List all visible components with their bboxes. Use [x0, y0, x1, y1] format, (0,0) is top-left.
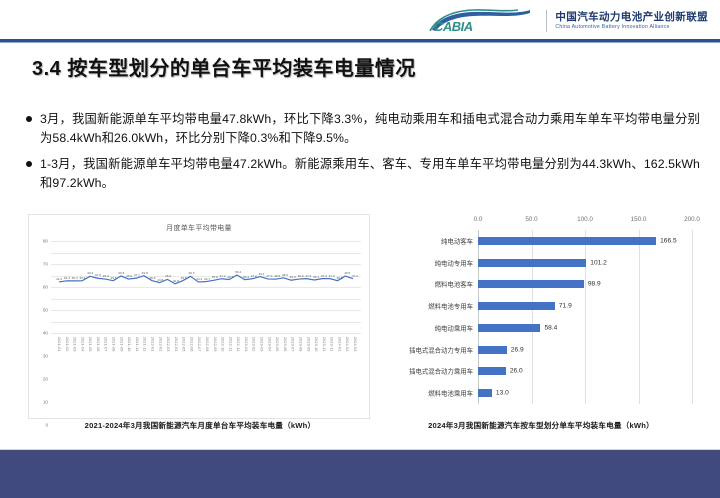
data-point-label: 47.3 — [305, 274, 311, 278]
x-axis-tick: 2021-11 — [135, 337, 139, 351]
x-axis-tick: 2022-09 — [213, 337, 217, 352]
x-axis-tick: 2022-12 — [236, 337, 240, 352]
svg-text:CABIA: CABIA — [434, 19, 473, 34]
x-axis-tick: 2023-06 — [283, 337, 287, 352]
x-axis-tick: 2022-05 — [182, 337, 186, 352]
data-point-label: 47.3 — [321, 274, 327, 278]
bar-category-label: 插电式混合动力乘用车 — [409, 367, 473, 376]
data-point-label: 44.7 — [204, 277, 210, 281]
data-point-label: 47.2 — [220, 274, 226, 278]
x-axis-tick: 2023-01 — [244, 337, 248, 352]
gridline — [639, 230, 640, 404]
x-axis-tick: 2022-04 — [174, 337, 178, 352]
data-point-label: 46.9 — [103, 274, 109, 278]
x-axis-tick: 150.0 — [631, 216, 647, 223]
bar — [478, 389, 492, 397]
left-chart-caption: 2021-2024年3月我国新能源汽车月度单台车平均装车电量（kWh） — [30, 420, 370, 431]
data-point-label: 43.8 — [157, 278, 163, 282]
y-axis-tick: 20 — [43, 377, 48, 382]
data-point-label: 47.3 — [329, 274, 335, 278]
x-axis-tick: 2023-03 — [260, 337, 264, 352]
bar-value-label: 13.0 — [496, 390, 509, 397]
x-axis-tick: 2022-02 — [158, 337, 162, 352]
bar-category-label: 插电式混合动力专用车 — [409, 345, 473, 354]
x-axis-tick: 2021-08 — [112, 337, 116, 352]
data-point-label: 49.5 — [344, 271, 350, 275]
bar — [478, 324, 540, 332]
logo-divider — [546, 10, 547, 32]
x-axis-tick: 2021-12 — [143, 337, 147, 352]
y-axis-tick: 70 — [43, 262, 48, 267]
data-point-label: 46.8 — [274, 274, 280, 278]
charts-area: 月度单车平均带电量 0102030405060708044.445.445.34… — [0, 208, 720, 416]
bar — [478, 302, 555, 310]
x-axis-tick: 100.0 — [577, 216, 593, 223]
data-point-label: 47.6 — [95, 273, 101, 277]
x-axis-tick: 2021-09 — [119, 337, 123, 352]
bar-category-label: 纯电动客车 — [441, 236, 473, 245]
x-axis-tick: 2022-03 — [166, 337, 170, 352]
bar-category-label: 燃料电池客车 — [435, 280, 473, 289]
page-title: 3.4 按车型划分的单台车平均装车电量情况 — [32, 52, 416, 81]
header-rule-secondary — [0, 42, 720, 43]
bullet-item: 1-3月，我国新能源单车平均带电量47.2kWh。新能源乘用车、客车、专用车单车… — [26, 155, 700, 193]
data-point-label: 45.6 — [149, 276, 155, 280]
x-axis-tick: 200.0 — [684, 216, 700, 223]
bar — [478, 280, 584, 288]
x-axis-tick: 2021-06 — [96, 337, 100, 352]
bar — [478, 346, 507, 354]
bullet-dot-icon — [26, 116, 32, 122]
y-axis-tick: 40 — [43, 331, 48, 336]
data-point-label: 49.6 — [118, 271, 124, 275]
data-point-label: 45.8 — [212, 275, 218, 279]
y-axis-tick: 60 — [43, 285, 48, 290]
x-axis-tick: 2024-01 — [337, 337, 341, 352]
gridline: 0 — [51, 333, 361, 334]
x-axis-tick: 2021-02 — [65, 337, 69, 352]
right-chart-caption: 2024年3月我国新能源汽车按车型划分单车平均装车电量（kWh） — [378, 420, 704, 431]
data-point-label: 49.3 — [188, 271, 194, 275]
x-axis-tick: 2022-06 — [189, 337, 193, 352]
x-axis-tick: 2022-07 — [197, 337, 201, 352]
slide: CABIA 中国汽车动力电池产业创新联盟 China Automotive Ba… — [0, 0, 720, 498]
bar-category-label: 燃料电池专用车 — [428, 302, 473, 311]
bar-category-label: 燃料电池乘用车 — [428, 389, 473, 398]
bar-category-label: 纯电动专用车 — [435, 258, 473, 267]
x-axis-tick: 2021-03 — [73, 337, 77, 352]
gridline — [585, 230, 586, 404]
data-point-label: 48.0 — [282, 273, 288, 277]
x-axis-tick: 2022-01 — [150, 337, 154, 352]
line-chart-plot: 0102030405060708044.445.445.345.449.347.… — [51, 241, 361, 333]
x-axis-tick: 2021-01 — [57, 337, 61, 352]
x-axis-tick: 2023-11 — [322, 337, 326, 351]
bar-value-label: 26.9 — [511, 346, 524, 353]
cabia-logo-icon: CABIA — [426, 6, 538, 36]
data-point-label: 47.7 — [134, 273, 140, 277]
data-point-label: 45.4 — [79, 276, 85, 280]
x-axis-tick: 2023-02 — [252, 337, 256, 352]
bullet-list: 3月，我国新能源单车平均带电量47.8kWh，环比下降3.3%，纯电动乘用车和插… — [26, 110, 700, 200]
data-point-label: 50.4 — [235, 270, 241, 274]
x-axis-tick: 2023-10 — [314, 337, 318, 352]
data-point-label: 47.2 — [352, 274, 358, 278]
x-axis-tick: 2023-04 — [267, 337, 271, 352]
slide-footer — [0, 450, 720, 498]
y-axis-tick: 80 — [43, 239, 48, 244]
y-axis-tick: 50 — [43, 308, 48, 313]
bar-value-label: 71.9 — [559, 303, 572, 310]
data-point-label: 47.0 — [266, 274, 272, 278]
bullet-dot-icon — [26, 161, 32, 167]
bar — [478, 367, 506, 375]
gridline — [532, 230, 533, 404]
data-point-label: 45.4 — [64, 276, 70, 280]
slide-header: CABIA 中国汽车动力电池产业创新联盟 China Automotive Ba… — [0, 0, 720, 40]
monthly-line-chart: 月度单车平均带电量 0102030405060708044.445.445.34… — [28, 214, 370, 419]
data-point-label: 46.9 — [297, 274, 303, 278]
bullet-text: 3月，我国新能源单车平均带电量47.8kWh，环比下降3.3%，纯电动乘用车和插… — [40, 110, 700, 148]
x-axis-tick: 2023-05 — [275, 337, 279, 352]
x-axis-tick: 2023-09 — [306, 337, 310, 352]
y-axis-tick: 30 — [43, 354, 48, 359]
data-point-label: 49.1 — [259, 272, 265, 276]
x-axis-tick: 2023-07 — [291, 337, 295, 352]
x-axis-tick: 2022-10 — [221, 337, 225, 352]
data-point-label: 45.5 — [336, 276, 342, 280]
line-series-path — [51, 241, 361, 333]
data-point-label: 45.9 — [290, 275, 296, 279]
x-axis-tick: 2021-04 — [80, 337, 84, 352]
brand-name-en: China Automotive Battery Innovation Alli… — [555, 25, 708, 30]
data-point-label: 47.2 — [251, 274, 257, 278]
x-axis-tick: 2023-12 — [330, 337, 334, 352]
data-point-label: 45.5 — [181, 276, 187, 280]
line-chart-title: 月度单车平均带电量 — [29, 223, 369, 233]
x-axis-tick: 50.0 — [525, 216, 537, 223]
data-point-label: 42.8 — [173, 279, 179, 283]
bar-chart-plot: 纯电动客车166.5纯电动专用车101.2燃料电池客车98.9燃料电池专用车71… — [478, 230, 692, 404]
x-axis-tick: 2021-07 — [104, 337, 108, 352]
x-axis-tick: 2022-08 — [205, 337, 209, 352]
x-axis-tick: 2021-10 — [127, 337, 131, 352]
brand-name-cn: 中国汽车动力电池产业创新联盟 — [555, 12, 708, 23]
brand-logo: CABIA 中国汽车动力电池产业创新联盟 China Automotive Ba… — [426, 6, 708, 36]
bar — [478, 237, 656, 245]
data-point-label: 44.4 — [196, 277, 202, 281]
data-point-label: 45.3 — [72, 276, 78, 280]
bullet-text: 1-3月，我国新能源单车平均带电量47.2kWh。新能源乘用车、客车、专用车单车… — [40, 155, 700, 193]
data-point-label: 49.8 — [142, 271, 148, 275]
x-axis-tick: 2023-08 — [298, 337, 302, 352]
x-axis-tick: 0.0 — [474, 216, 483, 223]
bar-value-label: 98.9 — [588, 281, 601, 288]
bar-value-label: 58.4 — [544, 324, 557, 331]
data-point-label: 46.5 — [227, 275, 233, 279]
x-axis-tick: 2024-03 — [353, 337, 357, 352]
vehicle-type-bar-chart: 0.050.0100.0150.0200.0 纯电动客车166.5纯电动专用车1… — [390, 208, 700, 414]
gridline — [692, 230, 693, 404]
x-axis-tick: 2022-11 — [228, 337, 232, 351]
bar-value-label: 101.2 — [590, 259, 607, 266]
data-point-label: 46.4 — [243, 275, 249, 279]
value-axis — [478, 230, 479, 404]
bar-value-label: 26.0 — [510, 368, 523, 375]
bar-category-label: 纯电动乘用车 — [435, 323, 473, 332]
data-point-label: 49.3 — [87, 271, 93, 275]
bar — [478, 259, 586, 267]
y-axis-tick: 10 — [43, 400, 48, 405]
bar-chart-x-axis: 0.050.0100.0150.0200.0 — [478, 216, 692, 228]
data-point-label: 44.4 — [56, 277, 62, 281]
line-chart-x-axis: 2021-012021-022021-032021-042021-052021-… — [51, 337, 361, 393]
bullet-item: 3月，我国新能源单车平均带电量47.8kWh，环比下降3.3%，纯电动乘用车和插… — [26, 110, 700, 148]
x-axis-tick: 2021-05 — [88, 337, 92, 352]
bar-value-label: 166.5 — [660, 237, 677, 244]
data-point-label: 46.9 — [126, 274, 132, 278]
data-point-label: 45.5 — [111, 276, 117, 280]
data-point-label: 46.1 — [313, 275, 319, 279]
x-axis-tick: 2024-02 — [345, 337, 349, 352]
brand-text: 中国汽车动力电池产业创新联盟 China Automotive Battery … — [555, 12, 708, 30]
data-point-label: 46.6 — [165, 274, 171, 278]
